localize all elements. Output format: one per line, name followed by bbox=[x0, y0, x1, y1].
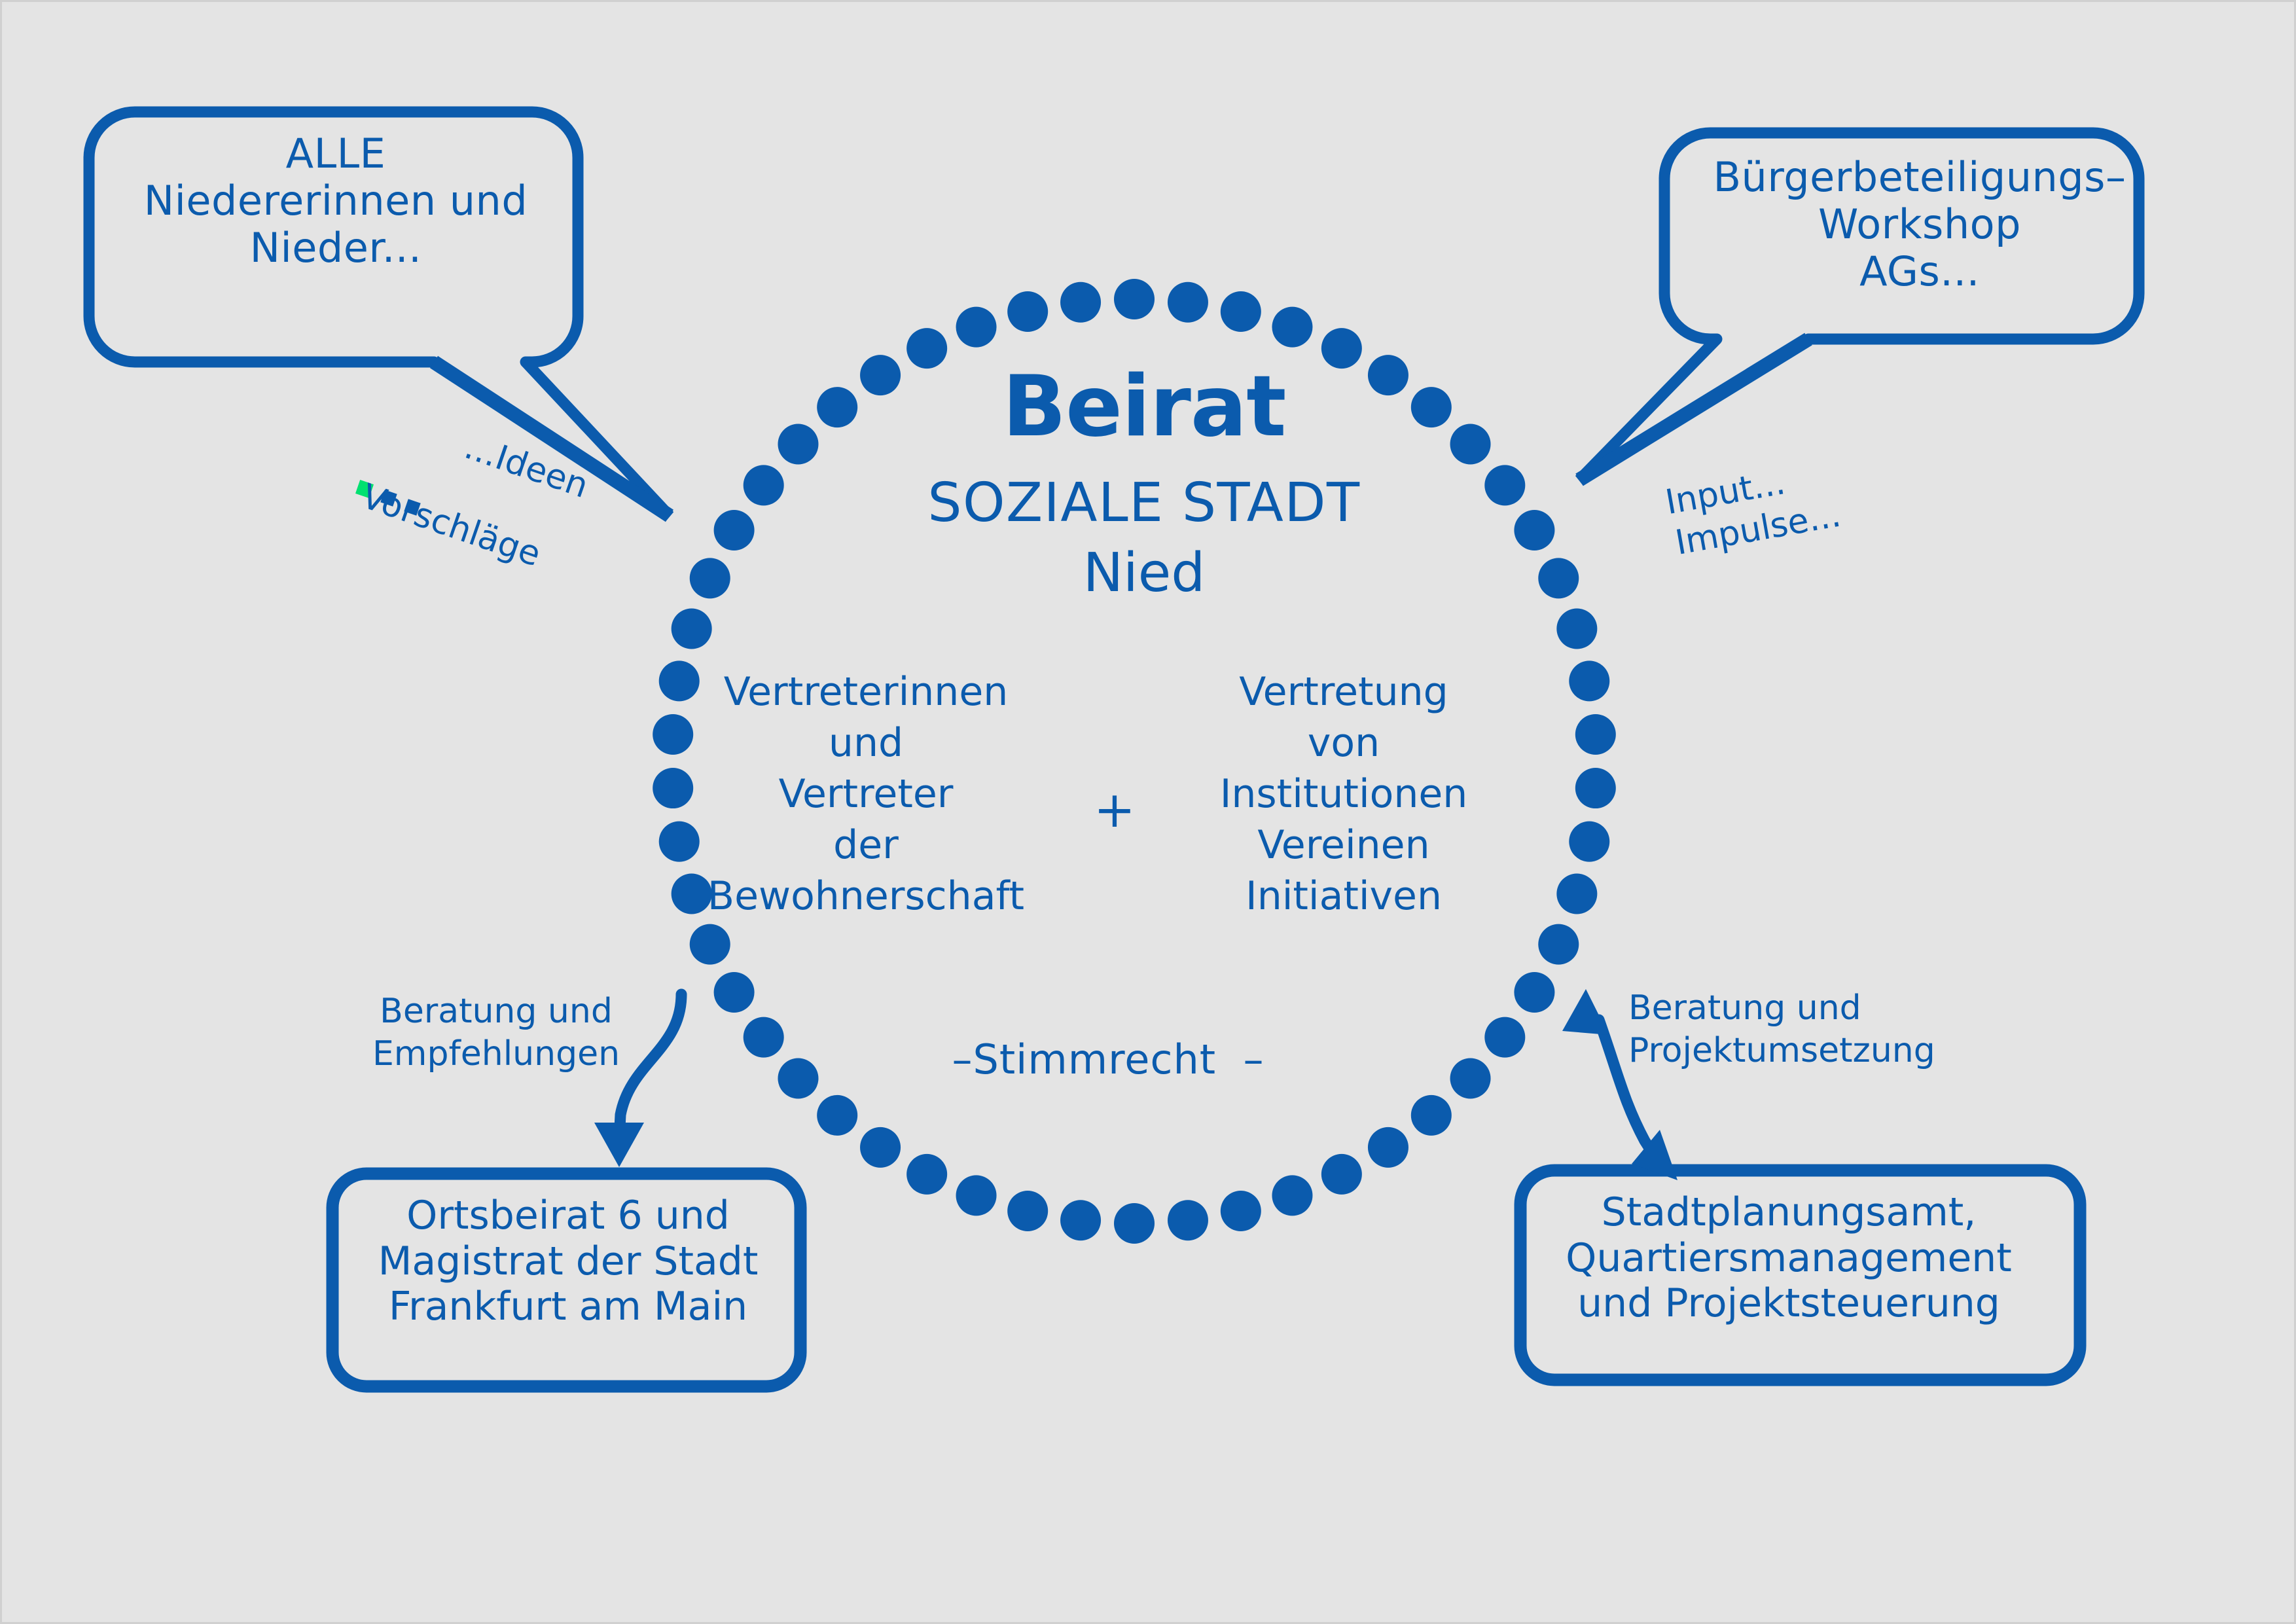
center-column-right: Vertretung von Institutionen Vereinen In… bbox=[1200, 666, 1488, 922]
center-subtitle-line2: Nied bbox=[872, 542, 1416, 604]
ring-dot bbox=[1007, 1191, 1048, 1231]
ring-dot bbox=[1514, 972, 1554, 1013]
ring-dot bbox=[1060, 1200, 1101, 1240]
ring-dot bbox=[1450, 424, 1491, 465]
ring-dot bbox=[1569, 821, 1609, 862]
ring-dot bbox=[744, 465, 784, 505]
annotation-beratung-empfehlungen: Beratung und Empfehlungen bbox=[355, 990, 637, 1075]
ring-dot bbox=[1450, 1058, 1491, 1098]
ring-dot bbox=[1484, 1017, 1525, 1058]
ring-dot bbox=[860, 1127, 901, 1168]
ring-dot bbox=[672, 609, 712, 649]
ring-dot bbox=[1114, 1203, 1155, 1244]
center-subtitle-line1: SOZIALE STADT bbox=[872, 472, 1416, 534]
ring-dot bbox=[1168, 1200, 1208, 1240]
ring-dot bbox=[1575, 714, 1616, 755]
ring-dot bbox=[1411, 1095, 1452, 1136]
ring-dot bbox=[1168, 282, 1208, 323]
ring-dot bbox=[653, 714, 693, 755]
box-bottom-right-label: Stadtplanungsamt, Quartiersmanagement un… bbox=[1514, 1190, 2064, 1327]
bubble-top-right-label: Bürgerbeteiligungs– Workshop AGs... bbox=[1677, 154, 2162, 295]
ring-dot bbox=[1272, 307, 1312, 348]
ring-dot bbox=[1321, 1154, 1362, 1195]
ring-dot bbox=[1368, 1127, 1408, 1168]
plus-symbol: + bbox=[1075, 781, 1154, 839]
bubble-top-left-label: ALLE Niedererinnen und Nieder... bbox=[94, 130, 578, 272]
ring-dot bbox=[1411, 387, 1452, 427]
ring-dot bbox=[906, 1154, 947, 1195]
ring-dot bbox=[817, 387, 857, 427]
ring-dot bbox=[714, 510, 755, 550]
ring-dot bbox=[744, 1017, 784, 1058]
ring-dot bbox=[956, 307, 997, 348]
ring-dot bbox=[1556, 609, 1597, 649]
center-column-left: Vertreterinnen und Vertreter der Bewohne… bbox=[702, 666, 1030, 922]
center-title: Beirat bbox=[872, 359, 1416, 456]
ring-dot bbox=[1514, 510, 1554, 550]
ring-dot bbox=[1221, 291, 1261, 332]
ring-dot bbox=[1575, 768, 1616, 808]
ring-dot bbox=[1272, 1175, 1312, 1216]
ring-dot bbox=[1007, 291, 1048, 332]
ring-dot bbox=[659, 821, 700, 862]
ring-dot bbox=[778, 424, 818, 465]
ring-dot bbox=[778, 1058, 818, 1098]
center-footer-stimmrecht: –Stimmrecht – bbox=[899, 1036, 1318, 1083]
ring-dot bbox=[1569, 660, 1609, 701]
ring-dot bbox=[1538, 924, 1579, 965]
ring-dot bbox=[1556, 873, 1597, 914]
ring-dot bbox=[1538, 558, 1579, 598]
ring-dot bbox=[653, 768, 693, 808]
ring-dot bbox=[659, 660, 700, 701]
ring-dot bbox=[714, 972, 755, 1013]
ring-dot bbox=[1484, 465, 1525, 505]
ring-dot bbox=[817, 1095, 857, 1136]
ring-dot bbox=[1221, 1191, 1261, 1231]
ring-dot bbox=[1114, 279, 1155, 319]
ring-dot bbox=[956, 1175, 997, 1216]
box-bottom-left-label: Ortsbeirat 6 und Magistrat der Stadt Fra… bbox=[329, 1193, 807, 1330]
annotation-beratung-projektumsetzung: Beratung und Projektumsetzung bbox=[1628, 987, 1969, 1072]
ring-dot bbox=[690, 924, 730, 965]
ring-dot bbox=[1060, 282, 1101, 323]
diagram-canvas: ALLE Niedererinnen und Nieder... Bürgerb… bbox=[0, 0, 2296, 1624]
ring-dot bbox=[690, 558, 730, 598]
